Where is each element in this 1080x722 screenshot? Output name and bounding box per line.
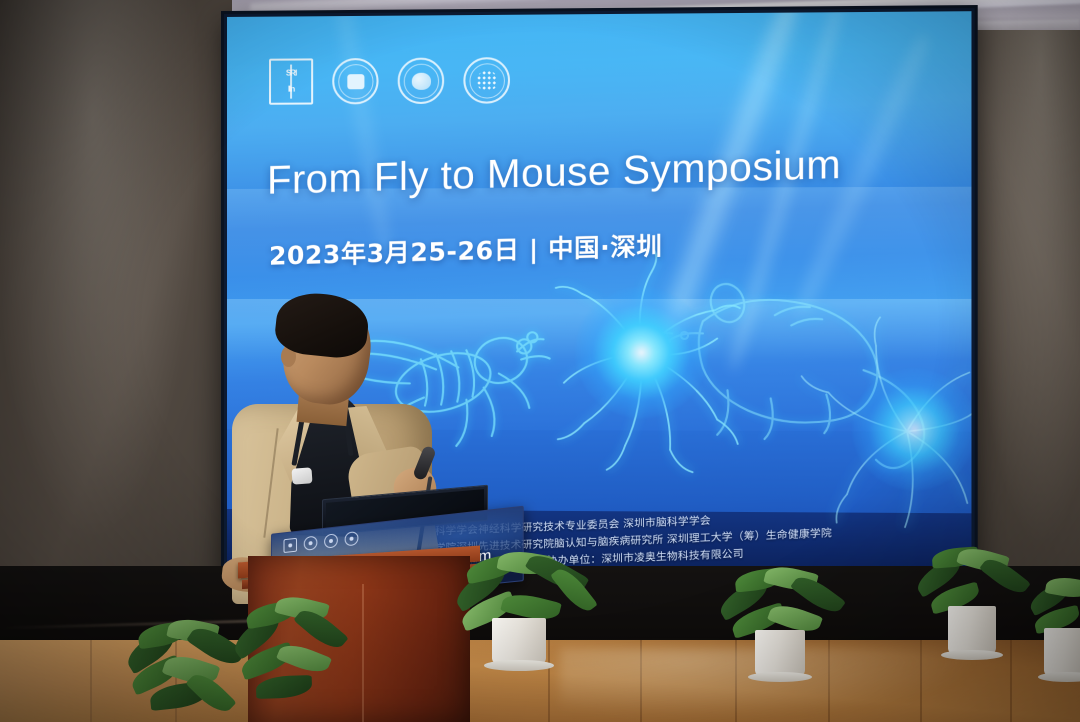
plant-left-of-podium [230, 596, 350, 722]
book-logo-bottom-text: IIn [288, 86, 294, 94]
book-logo-top-text: SRI [286, 70, 296, 78]
plant-right-2 [910, 548, 1038, 666]
plant-pot-right-1 [755, 630, 805, 676]
plant-saucer-right-1 [748, 672, 812, 682]
screen-logo-row: SRI IIn [269, 57, 510, 105]
neuron-glow-right [852, 368, 971, 491]
plant-pot-far-right [1044, 628, 1080, 676]
podium-book-emblem-logo [284, 538, 297, 553]
plant-saucer-center [484, 660, 554, 671]
plant-far-right [1028, 578, 1080, 688]
photo-scene: SRI IIn From Fly to Mouse Symposium 2023… [0, 0, 1080, 722]
podium-seal-logo-3 [345, 531, 359, 546]
plant-pot-right-2 [948, 606, 996, 654]
plant-right-1 [715, 568, 853, 688]
book-emblem-logo: SRI IIn [269, 58, 313, 104]
academy-seal-logo [463, 57, 510, 104]
name-badge [291, 467, 312, 484]
podium-seal-logo-2 [324, 533, 338, 548]
university-seal-logo-1 [332, 58, 378, 104]
neuron-glow-left [575, 287, 708, 419]
plant-saucer-far-right [1038, 672, 1080, 682]
plant-center [452, 552, 602, 670]
plant-pot-center [492, 618, 546, 664]
wall-left [0, 0, 232, 660]
podium-logo-row [284, 531, 359, 553]
plant-saucer-right-2 [941, 650, 1003, 660]
brain-institute-seal-logo [398, 58, 444, 105]
podium-seal-logo-1 [304, 536, 318, 551]
podium-corner-seam [362, 584, 364, 722]
